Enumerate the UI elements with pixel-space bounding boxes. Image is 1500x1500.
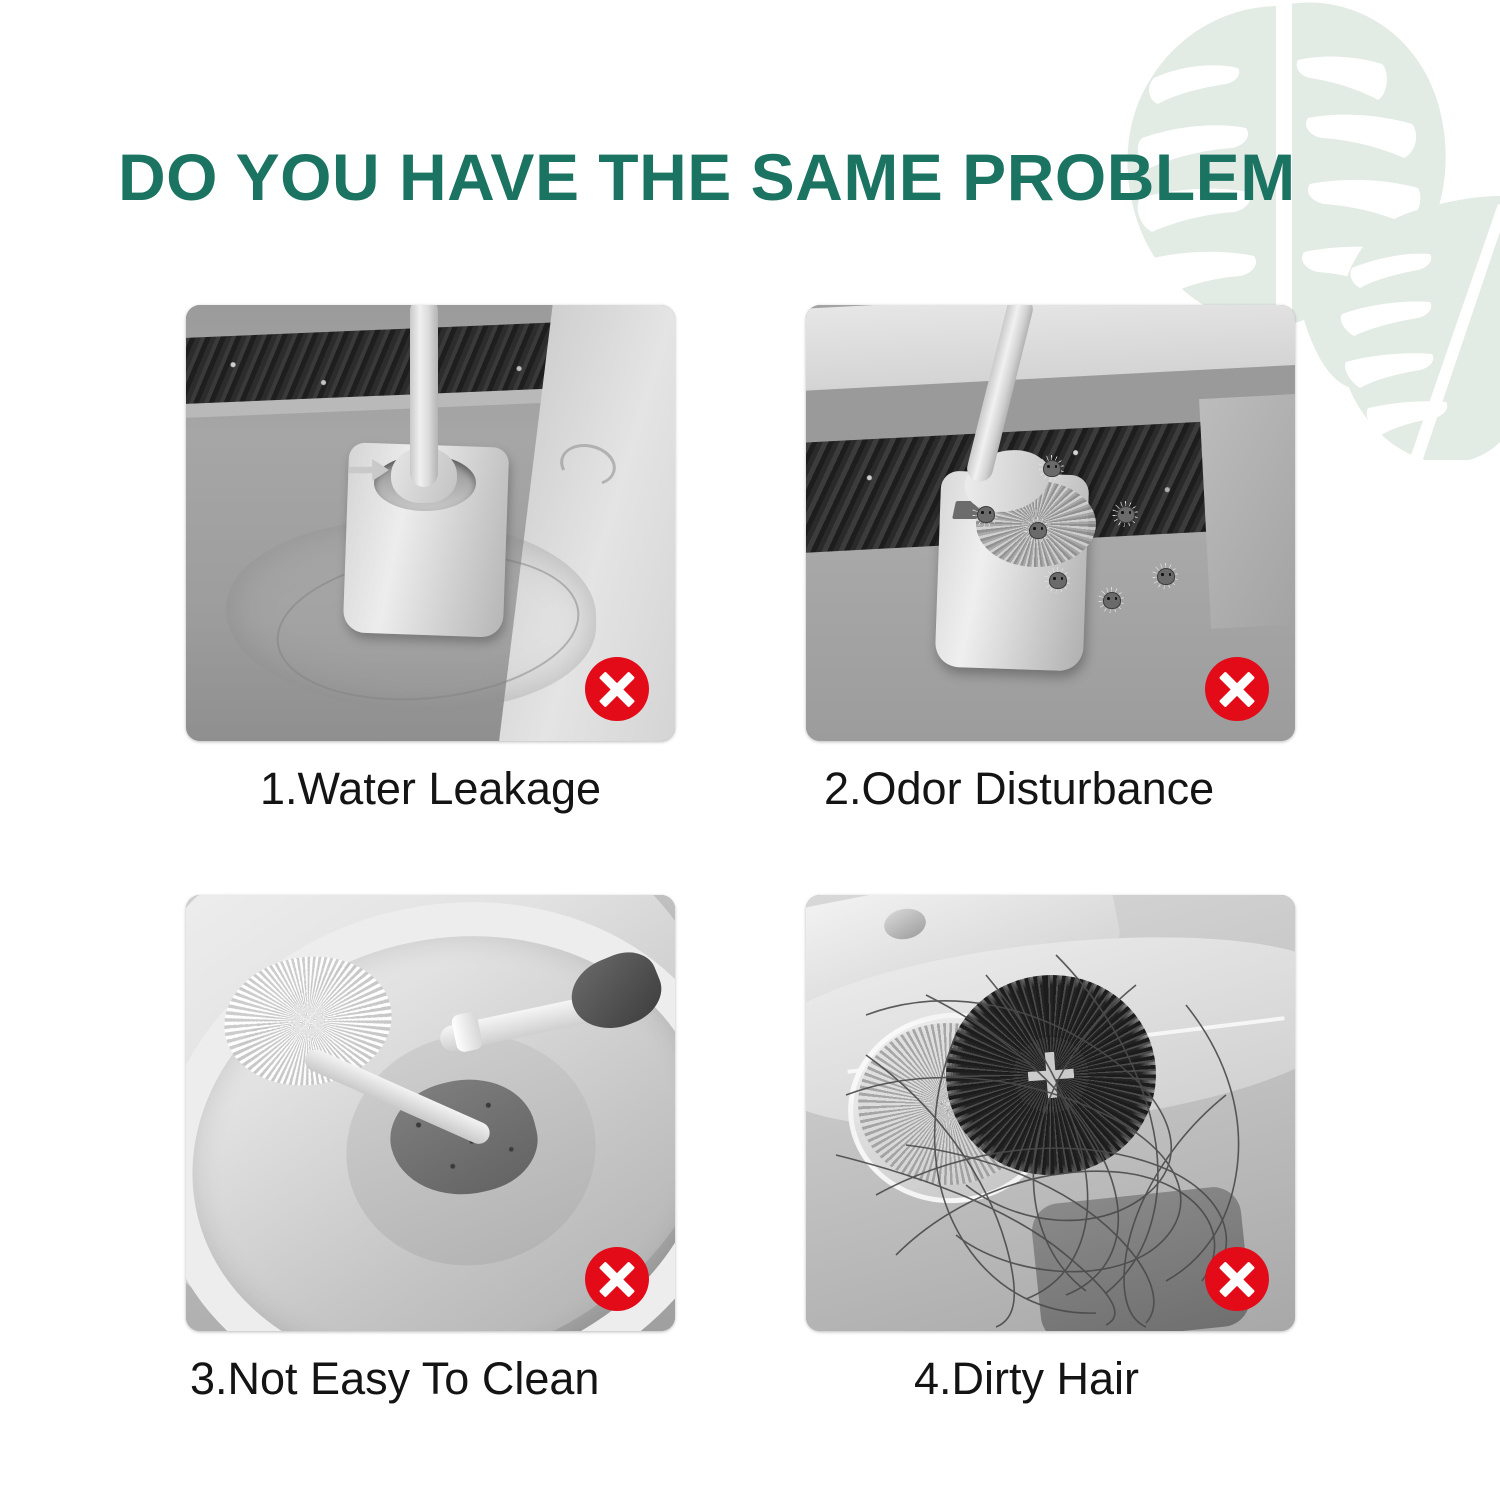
status-badge-x	[585, 657, 649, 721]
problem-caption-3: 3.Not Easy To Clean	[186, 1353, 675, 1405]
problem-card-odor-disturbance[interactable]: 2.Odor Disturbance	[806, 305, 1295, 815]
germ-body	[1157, 568, 1175, 585]
odor-germ-icon	[1152, 563, 1178, 589]
problem-card-dirty-hair[interactable]: 4.Dirty Hair	[806, 895, 1295, 1405]
odor-germ-icon	[1044, 567, 1070, 593]
problem-photo-dirty-hair	[806, 895, 1295, 1331]
status-badge-x	[1205, 1247, 1269, 1311]
status-badge-x	[1205, 657, 1269, 721]
brush-handle	[410, 305, 438, 487]
problem-photo-not-easy-to-clean	[186, 895, 675, 1331]
page-title: DO YOU HAVE THE SAME PROBLEM	[118, 140, 1418, 214]
germ-body	[1029, 522, 1047, 539]
problem-photo-odor-disturbance	[806, 305, 1295, 741]
germ-body	[1049, 572, 1067, 589]
problem-caption-1: 1.Water Leakage	[186, 763, 675, 815]
problem-grid: 1.Water Leakage	[0, 0, 1500, 1500]
side-floor-tile	[1199, 391, 1295, 629]
germ-body	[1117, 506, 1135, 523]
status-badge-x	[585, 1247, 649, 1311]
germ-body	[1103, 592, 1121, 609]
odor-germ-icon	[972, 501, 998, 527]
odor-germ-icon	[1024, 517, 1050, 543]
germ-body	[977, 506, 995, 523]
germ-body	[1043, 460, 1061, 477]
problem-caption-2: 2.Odor Disturbance	[806, 763, 1295, 815]
problem-photo-water-leakage	[186, 305, 675, 741]
problem-card-not-easy-to-clean[interactable]: 3.Not Easy To Clean	[186, 895, 675, 1405]
problem-caption-4: 4.Dirty Hair	[806, 1353, 1295, 1405]
odor-germ-icon	[1038, 455, 1064, 481]
odor-germ-icon	[1098, 587, 1124, 613]
problem-card-water-leakage[interactable]: 1.Water Leakage	[186, 305, 675, 815]
odor-germ-icon	[1112, 501, 1138, 527]
